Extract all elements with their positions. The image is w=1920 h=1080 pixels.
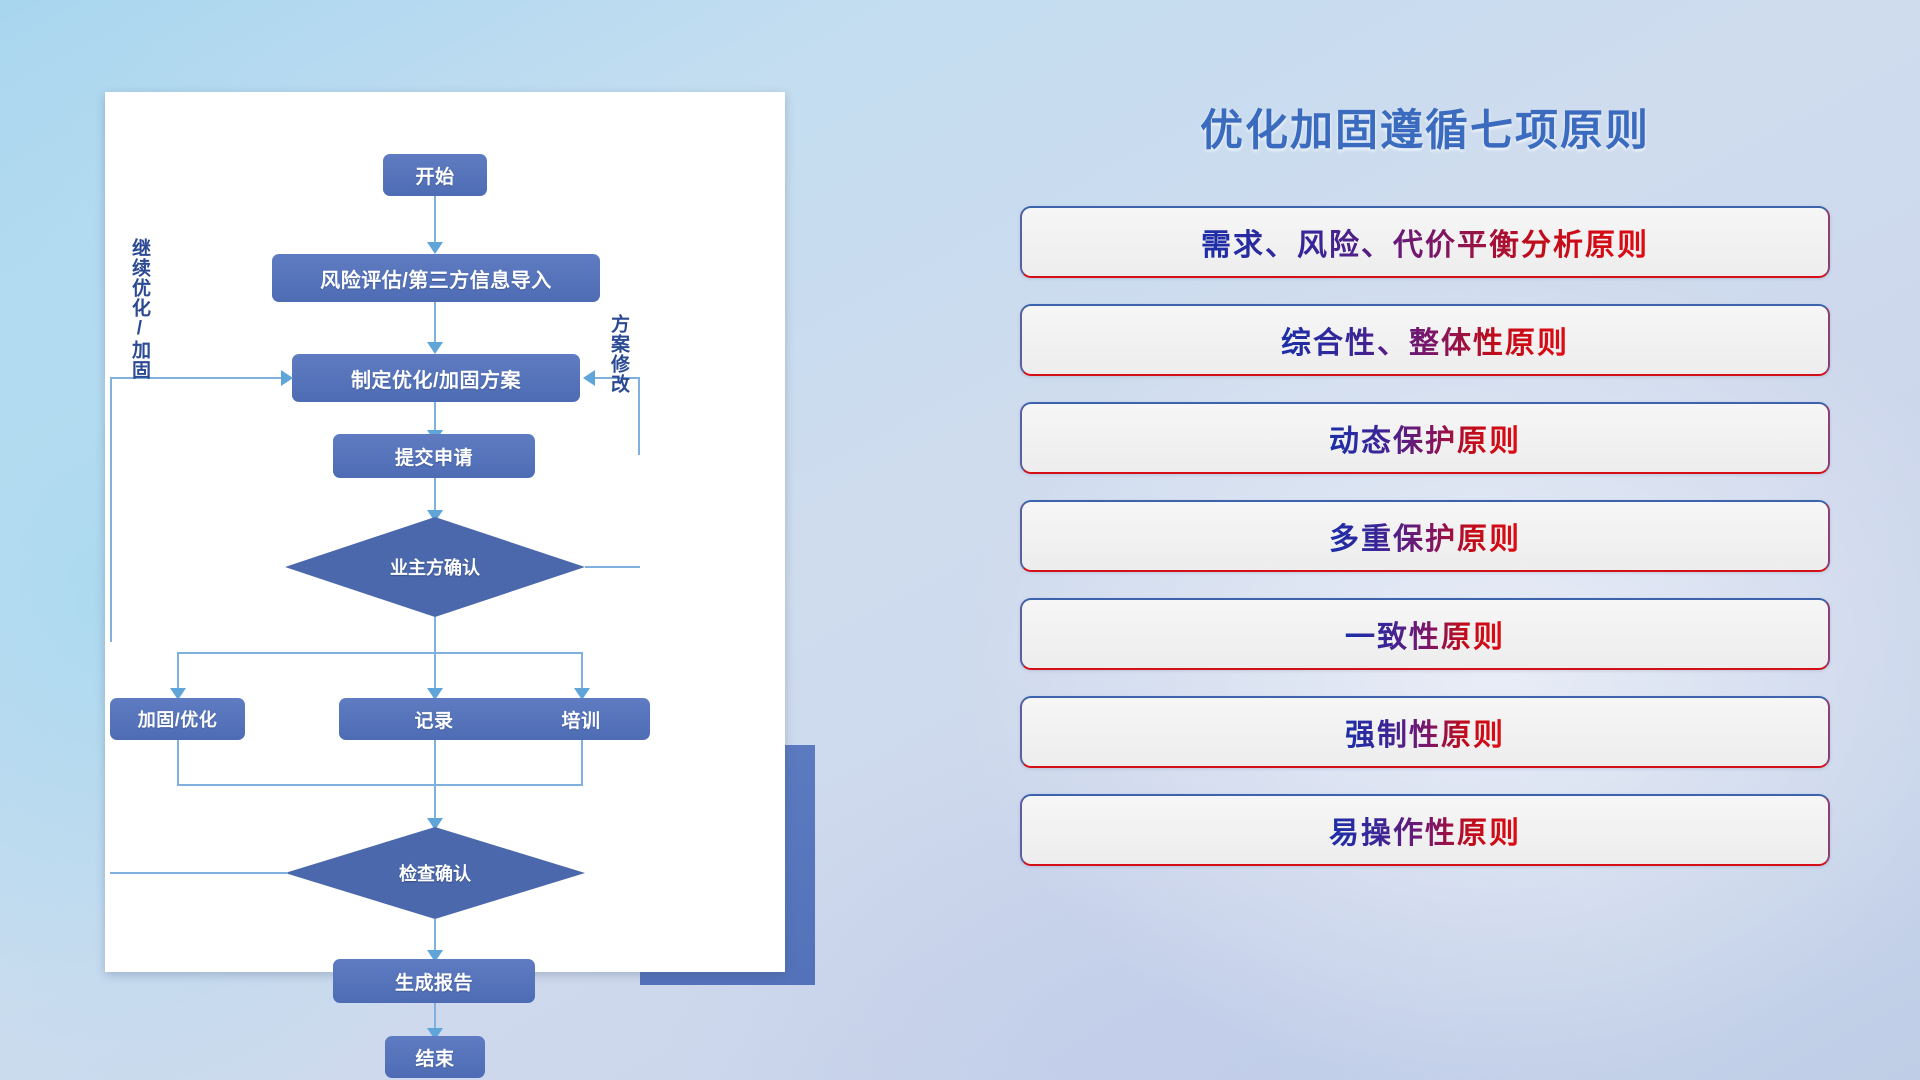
arrow-left-loop-into-plan: [281, 370, 293, 386]
connector-training-down: [581, 740, 583, 786]
connector-branch-bus: [177, 652, 582, 654]
arrow-right-loop-into-plan: [583, 370, 595, 386]
flow-node-risk-assessment[interactable]: 风险评估/第三方信息导入: [272, 254, 600, 302]
panel-title: 优化加固遵循七项原则: [1020, 96, 1830, 158]
connector-record-to-check: [434, 740, 436, 828]
flow-node-label: 生成报告: [395, 968, 473, 995]
flow-node-label: 业主方确认: [390, 554, 480, 580]
flow-decision-inspection-confirm[interactable]: 检查确认: [285, 827, 585, 919]
principle-label: 易操作性原则: [1329, 808, 1521, 852]
flow-node-label: 结束: [415, 1044, 454, 1071]
connector-reinforce-down: [177, 740, 179, 786]
flow-node-reinforce-optimize[interactable]: 加固/优化: [110, 698, 245, 740]
flow-node-submit-application[interactable]: 提交申请: [333, 434, 535, 478]
principle-card[interactable]: 综合性、整体性原则: [1020, 304, 1830, 376]
flow-node-end[interactable]: 结束: [385, 1036, 485, 1078]
edge-label-plan-revision: 方案修改: [608, 314, 628, 394]
principle-card[interactable]: 多重保护原则: [1020, 500, 1830, 572]
connector-start-to-risk: [434, 196, 436, 248]
principle-card[interactable]: 易操作性原则: [1020, 794, 1830, 866]
connector-left-loop-rail: [110, 377, 112, 642]
principle-label: 需求、风险、代价平衡分析原则: [1201, 220, 1649, 264]
flow-node-label: 风险评估/第三方信息导入: [320, 264, 552, 293]
flow-node-label: 制定优化/加固方案: [351, 364, 521, 393]
principle-label: 强制性原则: [1345, 710, 1505, 754]
flow-node-make-plan[interactable]: 制定优化/加固方案: [292, 354, 580, 402]
flow-node-label: 记录: [414, 706, 453, 733]
arrow-start-to-risk: [427, 242, 443, 254]
connector-right-loop-rail: [638, 377, 640, 455]
arrow-risk-to-plan: [427, 342, 443, 354]
flow-node-record[interactable]: 记录: [339, 698, 529, 740]
flowchart-diagram: 开始 风险评估/第三方信息导入 制定优化/加固方案 继续优化/加固 方: [105, 92, 785, 972]
principle-label: 动态保护原则: [1329, 416, 1521, 460]
edge-label-continue-optimize: 继续优化/加固: [129, 238, 149, 380]
connector-merge-bus: [177, 784, 582, 786]
principle-card[interactable]: 强制性原则: [1020, 696, 1830, 768]
principle-label: 多重保护原则: [1329, 514, 1521, 558]
flow-node-generate-report-real[interactable]: 生成报告: [333, 959, 535, 1003]
principle-card[interactable]: 一致性原则: [1020, 598, 1830, 670]
flow-node-label: 培训: [561, 706, 600, 733]
principle-card[interactable]: 需求、风险、代价平衡分析原则: [1020, 206, 1830, 278]
flow-node-start[interactable]: 开始: [383, 154, 487, 196]
flowchart-card: 开始 风险评估/第三方信息导入 制定优化/加固方案 继续优化/加固 方: [105, 92, 785, 972]
flow-node-label: 检查确认: [399, 860, 471, 886]
flow-node-label: 提交申请: [395, 443, 473, 470]
connector-check-to-left-rail: [110, 872, 288, 874]
principle-card[interactable]: 动态保护原则: [1020, 402, 1830, 474]
connector-owner-to-right-rail: [585, 566, 640, 568]
flow-decision-owner-confirm[interactable]: 业主方确认: [285, 517, 585, 617]
principles-panel: 优化加固遵循七项原则 需求、风险、代价平衡分析原则 综合性、整体性原则 动态保护…: [1020, 96, 1830, 996]
principle-label: 一致性原则: [1345, 612, 1505, 656]
flow-node-training[interactable]: 培训: [512, 698, 650, 740]
flow-node-label: 加固/优化: [138, 706, 218, 732]
principle-label: 综合性、整体性原则: [1281, 318, 1569, 362]
slide-canvas: 开始 风险评估/第三方信息导入 制定优化/加固方案 继续优化/加固 方: [0, 0, 1920, 1080]
flow-node-label: 开始: [415, 162, 454, 189]
